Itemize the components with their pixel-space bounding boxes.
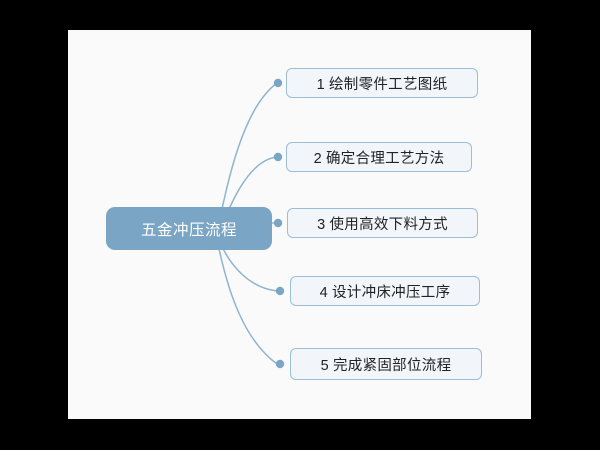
mindmap-canvas[interactable]: 五金冲压流程 1绘制零件工艺图纸 2确定合理工艺方法 3使用高效下料方式 4设计…: [68, 30, 531, 419]
branch-node-4-text: 设计冲床冲压工序: [332, 285, 450, 301]
branch-node-3[interactable]: 3使用高效下料方式: [287, 208, 478, 238]
connector-dot-4: [276, 287, 284, 295]
branch-node-5-label: 5完成紧固部位流程: [321, 354, 452, 375]
screenshot-frame: 五金冲压流程 1绘制零件工艺图纸 2确定合理工艺方法 3使用高效下料方式 4设计…: [0, 0, 600, 450]
branch-node-1-text: 绘制零件工艺图纸: [329, 77, 447, 93]
branch-node-5-index: 5: [321, 358, 329, 374]
branch-node-2-label: 2确定合理工艺方法: [314, 147, 445, 168]
branch-node-3-index: 3: [317, 217, 325, 233]
connector-dots: [274, 79, 284, 368]
branch-node-2[interactable]: 2确定合理工艺方法: [286, 142, 472, 172]
branch-node-1-label: 1绘制零件工艺图纸: [317, 73, 448, 94]
central-node-label: 五金冲压流程: [141, 218, 237, 240]
branch-node-2-index: 2: [314, 151, 322, 167]
branch-node-4-label: 4设计冲床冲压工序: [320, 281, 451, 302]
connector-dot-1: [274, 79, 282, 87]
branch-node-5[interactable]: 5完成紧固部位流程: [290, 348, 482, 380]
connector-dot-3: [274, 219, 282, 227]
connector-dot-2: [274, 153, 282, 161]
branch-node-4-index: 4: [320, 285, 328, 301]
central-node[interactable]: 五金冲压流程: [106, 207, 272, 250]
branch-node-1[interactable]: 1绘制零件工艺图纸: [286, 68, 478, 98]
connector-dot-5: [276, 360, 284, 368]
branch-node-3-label: 3使用高效下料方式: [317, 213, 448, 234]
branch-node-2-text: 确定合理工艺方法: [326, 151, 444, 167]
branch-node-5-text: 完成紧固部位流程: [333, 358, 451, 374]
branch-node-3-text: 使用高效下料方式: [329, 217, 447, 233]
connector-curve-5: [218, 244, 277, 364]
branch-node-4[interactable]: 4设计冲床冲压工序: [290, 276, 480, 306]
branch-node-1-index: 1: [317, 77, 325, 93]
